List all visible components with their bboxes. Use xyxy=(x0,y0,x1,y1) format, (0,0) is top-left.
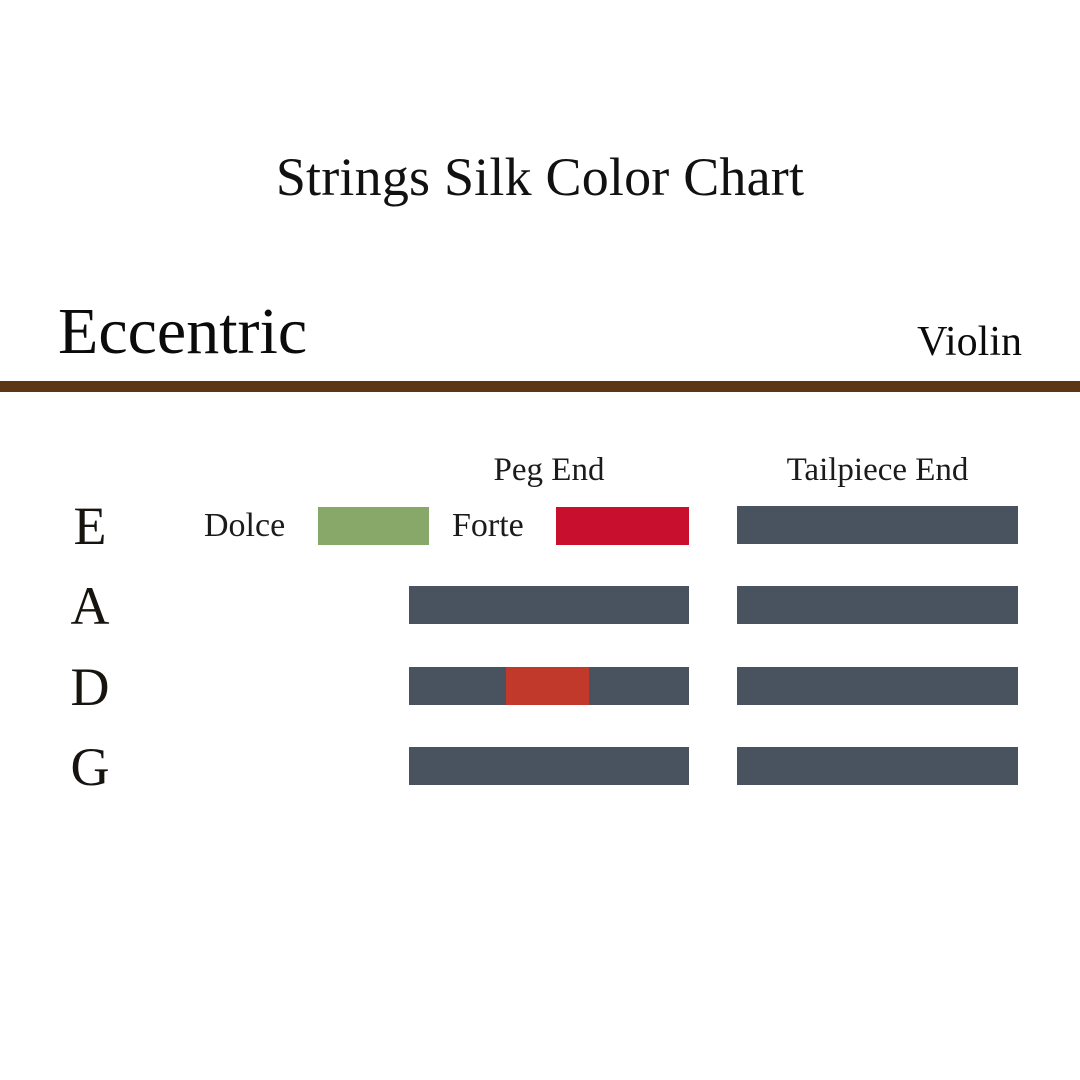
silk-segment xyxy=(506,667,589,705)
brand-name: Eccentric xyxy=(58,296,307,368)
string-row: E xyxy=(0,506,1080,546)
silk-segment xyxy=(737,747,1018,785)
chart-page: Strings Silk Color Chart Eccentric Violi… xyxy=(0,0,1080,1080)
silk-bar-e-tail xyxy=(737,506,1018,544)
silk-bar-e-peg xyxy=(409,506,689,544)
silk-segment xyxy=(737,667,1018,705)
column-header-peg-end: Peg End xyxy=(409,450,689,490)
silk-segment xyxy=(409,586,689,624)
instrument-name: Violin xyxy=(917,318,1022,366)
silk-bar-d-peg xyxy=(409,667,689,705)
silk-bar-g-tail xyxy=(737,747,1018,785)
string-label-a: A xyxy=(52,579,128,633)
column-header-tailpiece-end: Tailpiece End xyxy=(737,450,1018,490)
silk-segment xyxy=(737,506,1018,544)
brand-row: Eccentric Violin xyxy=(0,296,1080,372)
string-row: A xyxy=(0,586,1080,626)
string-label-d: D xyxy=(52,660,128,714)
string-row: D xyxy=(0,667,1080,707)
page-title: Strings Silk Color Chart xyxy=(0,145,1080,209)
silk-bar-a-tail xyxy=(737,586,1018,624)
silk-segment xyxy=(409,747,689,785)
brand-divider xyxy=(0,381,1080,392)
string-label-g: G xyxy=(52,740,128,794)
silk-bar-a-peg xyxy=(409,586,689,624)
string-label-e: E xyxy=(52,499,128,553)
string-row: G xyxy=(0,747,1080,787)
silk-segment xyxy=(737,586,1018,624)
silk-bar-d-tail xyxy=(737,667,1018,705)
silk-bar-g-peg xyxy=(409,747,689,785)
